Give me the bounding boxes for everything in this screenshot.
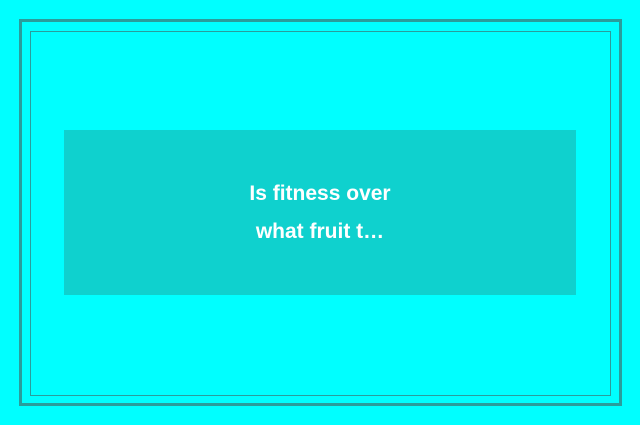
banner-line-2: what fruit t…	[256, 213, 384, 251]
text-banner: Is fitness over what fruit t…	[64, 130, 576, 295]
banner-line-1: Is fitness over	[249, 175, 390, 213]
slide-canvas: Is fitness over what fruit t…	[0, 0, 640, 425]
